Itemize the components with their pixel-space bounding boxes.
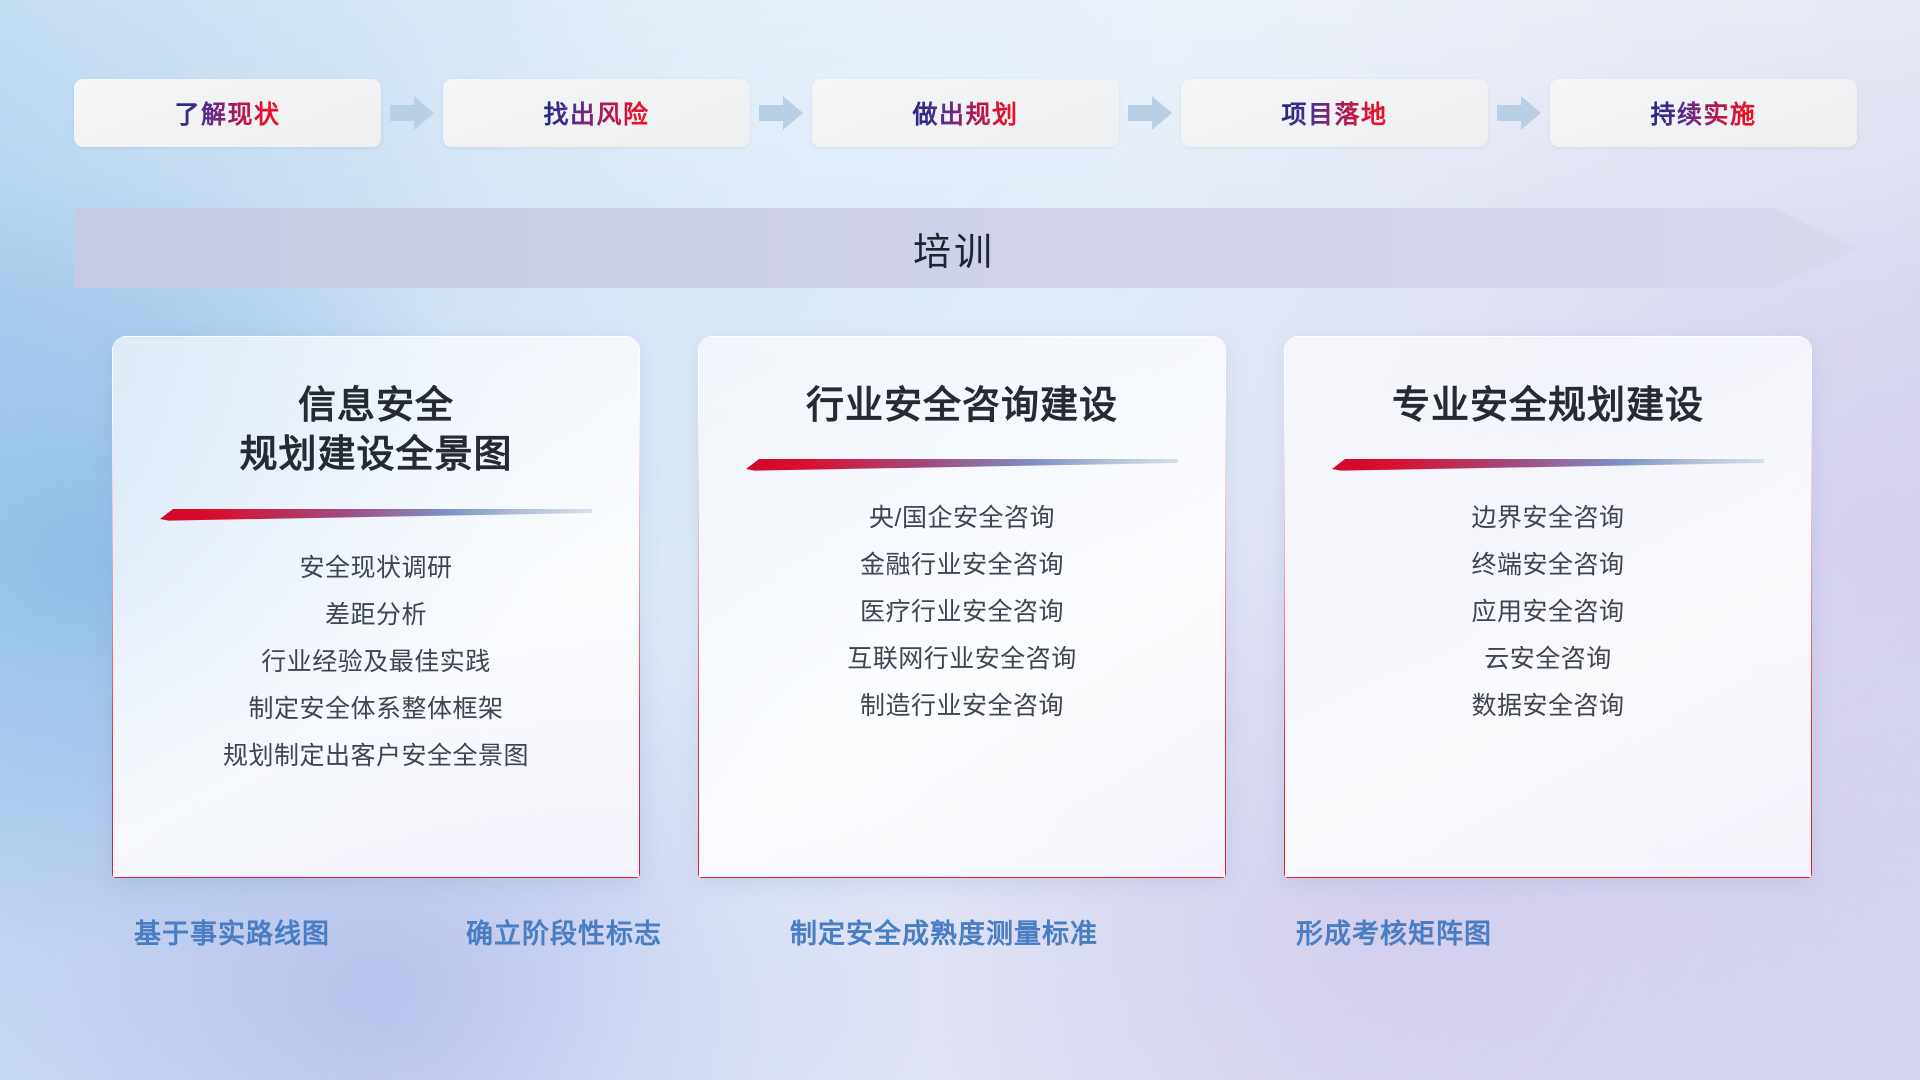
- card-item: 金融行业安全咨询: [850, 542, 1074, 589]
- arrow-right-icon: [750, 91, 812, 135]
- card-item: 云安全咨询: [1474, 636, 1622, 683]
- card-item-list: 央/国企安全咨询 金融行业安全咨询 医疗行业安全咨询 互联网行业安全咨询 制造行…: [698, 495, 1226, 730]
- card-item: 互联网行业安全咨询: [837, 636, 1087, 683]
- process-step-label: 持续实施: [1650, 95, 1756, 131]
- card-item: 医疗行业安全咨询: [850, 589, 1074, 636]
- arrow-right-icon: [1488, 91, 1550, 135]
- training-banner: 培训: [74, 208, 1858, 288]
- card-item: 数据安全咨询: [1461, 683, 1634, 730]
- footer-label: 形成考核矩阵图: [1296, 912, 1492, 951]
- arrow-right-icon: [381, 91, 443, 135]
- card-divider: [746, 457, 1179, 471]
- footer-label-row: 基于事实路线图 确立阶段性标志 制定安全成熟度测量标准 形成考核矩阵图: [0, 912, 1920, 958]
- footer-label: 确立阶段性标志: [466, 912, 662, 951]
- card-item: 差距分析: [315, 592, 437, 639]
- footer-label: 基于事实路线图: [134, 912, 330, 951]
- card-item: 行业经验及最佳实践: [251, 639, 501, 686]
- card-3[interactable]: 专业安全规划建设: [1284, 336, 1812, 878]
- process-step-4[interactable]: 项目落地: [1181, 79, 1488, 147]
- card-title: 行业安全咨询建设: [788, 382, 1136, 431]
- process-step-label: 了解现状: [174, 95, 280, 131]
- card-item-list: 安全现状调研 差距分析 行业经验及最佳实践 制定安全体系整体框架 规划制定出客户…: [112, 545, 640, 780]
- process-step-label: 找出风险: [543, 95, 649, 131]
- process-step-1[interactable]: 了解现状: [74, 79, 381, 147]
- process-flow: 了解现状 找出风险 做出规划 项目落地: [74, 78, 1858, 148]
- footer-label: 制定安全成熟度测量标准: [790, 912, 1098, 951]
- card-group: 信息安全 规划建设全景图: [112, 336, 1812, 878]
- card-item-list: 边界安全咨询 终端安全咨询 应用安全咨询 云安全咨询 数据安全咨询: [1284, 495, 1812, 730]
- card-divider: [1332, 457, 1765, 471]
- card-item: 终端安全咨询: [1461, 542, 1634, 589]
- card-item: 制造行业安全咨询: [850, 683, 1074, 730]
- card-item: 应用安全咨询: [1461, 589, 1634, 636]
- card-title: 专业安全规划建设: [1374, 382, 1722, 431]
- card-item: 边界安全咨询: [1461, 495, 1634, 542]
- card-item: 央/国企安全咨询: [859, 495, 1065, 542]
- process-step-5[interactable]: 持续实施: [1550, 79, 1857, 147]
- card-1[interactable]: 信息安全 规划建设全景图: [112, 336, 640, 878]
- card-2[interactable]: 行业安全咨询建设: [698, 336, 1226, 878]
- arrow-right-icon: [1119, 91, 1181, 135]
- process-step-label: 项目落地: [1281, 95, 1387, 131]
- card-divider: [160, 507, 593, 521]
- card-item: 制定安全体系整体框架: [238, 686, 513, 733]
- card-item: 安全现状调研: [289, 545, 462, 592]
- card-item: 规划制定出客户安全全景图: [213, 733, 539, 780]
- banner-title: 培训: [74, 208, 1858, 288]
- card-title: 信息安全 规划建设全景图: [221, 382, 530, 481]
- slide-canvas: 了解现状 找出风险 做出规划 项目落地: [0, 0, 1920, 1080]
- process-step-3[interactable]: 做出规划: [812, 79, 1119, 147]
- process-step-label: 做出规划: [912, 95, 1018, 131]
- process-step-2[interactable]: 找出风险: [443, 79, 750, 147]
